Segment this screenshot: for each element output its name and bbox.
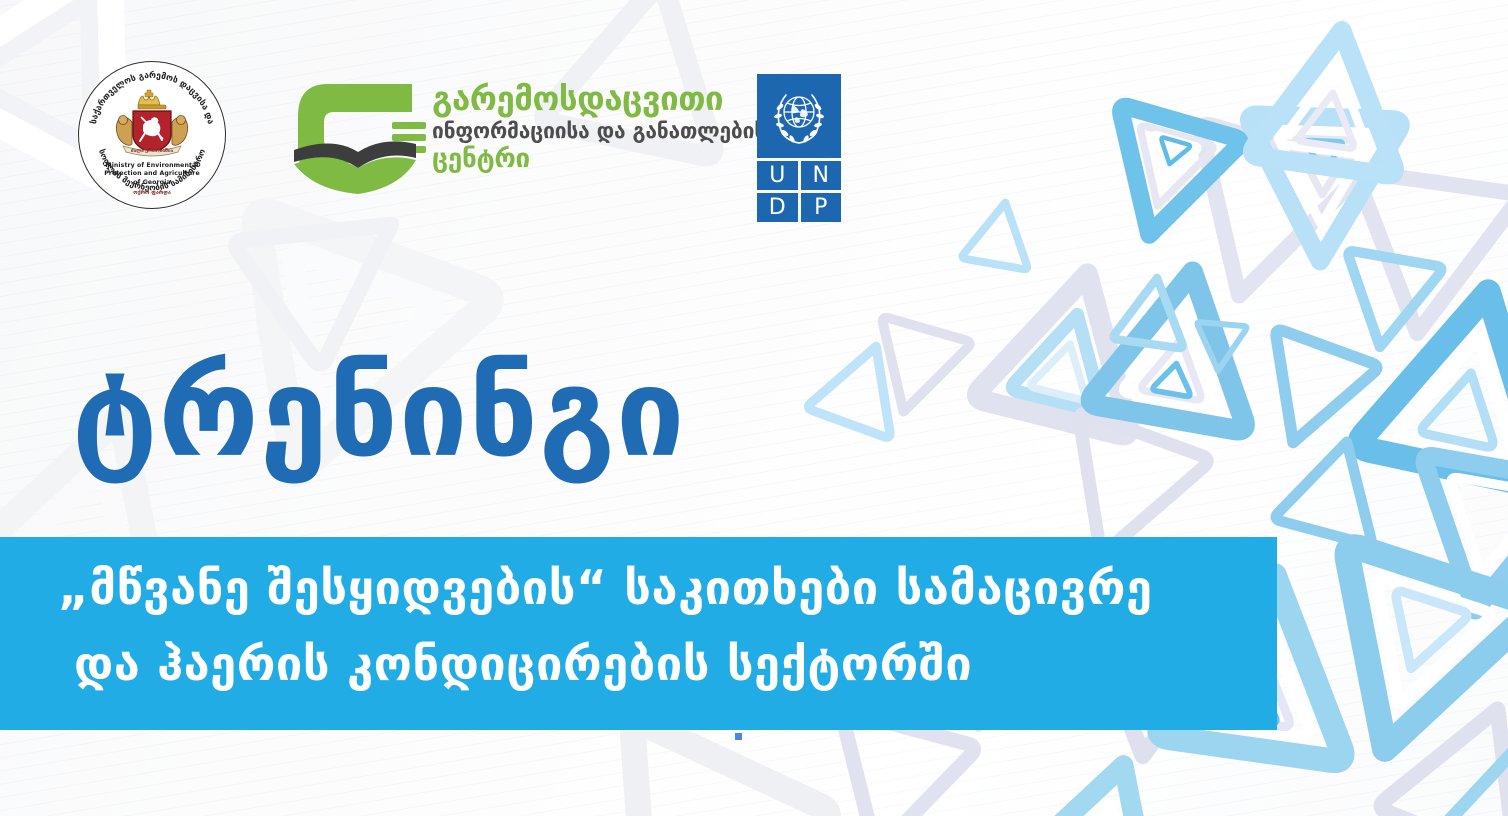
subtitle-line-1: „მწვანე შესყიდვების“ საკითხები სამაცივრე bbox=[58, 551, 1277, 627]
ministry-name-georgian-small: ოქრო ფარდა bbox=[93, 190, 211, 196]
un-emblem-icon bbox=[757, 74, 841, 158]
ministry-of-environment-logo: საქართველოს გარემოს დაცვისა და სოფლის მე… bbox=[78, 61, 226, 209]
ministry-en-line2: Protection and Agriculture bbox=[104, 170, 200, 177]
eco-centre-text: გარემოსდაცვითი ინფორმაციისა და განათლები… bbox=[432, 80, 718, 174]
undp-logo: U N D P bbox=[757, 74, 841, 222]
ministry-en-line3: of Georgia bbox=[133, 179, 170, 186]
undp-letter-grid: U N D P bbox=[757, 161, 841, 222]
undp-letter-u: U bbox=[757, 161, 798, 190]
eco-centre-line1: გარემოსდაცვითი bbox=[432, 80, 718, 118]
svg-text:ძალა ერთობაშია: ძალა ერთობაშია bbox=[131, 147, 174, 154]
subtitle-line-2: და ჰაერის კონდიცირების სექტორში bbox=[58, 627, 1277, 703]
undp-letter-n: N bbox=[801, 161, 842, 190]
georgia-coat-of-arms-icon: ძალა ერთობაშია bbox=[105, 89, 199, 163]
triangle-decor bbox=[1235, 4, 1431, 190]
decorative-dot bbox=[735, 733, 742, 740]
triangle-decor bbox=[954, 189, 1046, 277]
page-title: ტრენინგი bbox=[72, 352, 686, 474]
eco-centre-line3: ცენტრი bbox=[432, 144, 718, 174]
triangle-decor bbox=[1105, 264, 1200, 355]
eco-centre-book-icon bbox=[288, 78, 428, 198]
logo-row: საქართველოს გარემოს დაცვისა და სოფლის მე… bbox=[0, 0, 900, 240]
poster-canvas: საქართველოს გარემოს დაცვისა და სოფლის მე… bbox=[0, 0, 1508, 816]
triangle-decor bbox=[1188, 317, 1253, 378]
ministry-en-line1: Ministry of Environmental bbox=[105, 162, 198, 169]
undp-letter-d: D bbox=[757, 193, 798, 222]
undp-letter-p: P bbox=[801, 193, 842, 222]
environmental-information-education-centre-logo: გარემოსდაცვითი ინფორმაციისა და განათლები… bbox=[288, 78, 718, 204]
eco-centre-line2: ინფორმაციისა და განათლების bbox=[432, 118, 718, 144]
subtitle-banner: „მწვანე შესყიდვების“ საკითხები სამაცივრე… bbox=[0, 537, 1277, 730]
ministry-name-english: Ministry of Environmental Protection and… bbox=[93, 162, 211, 187]
